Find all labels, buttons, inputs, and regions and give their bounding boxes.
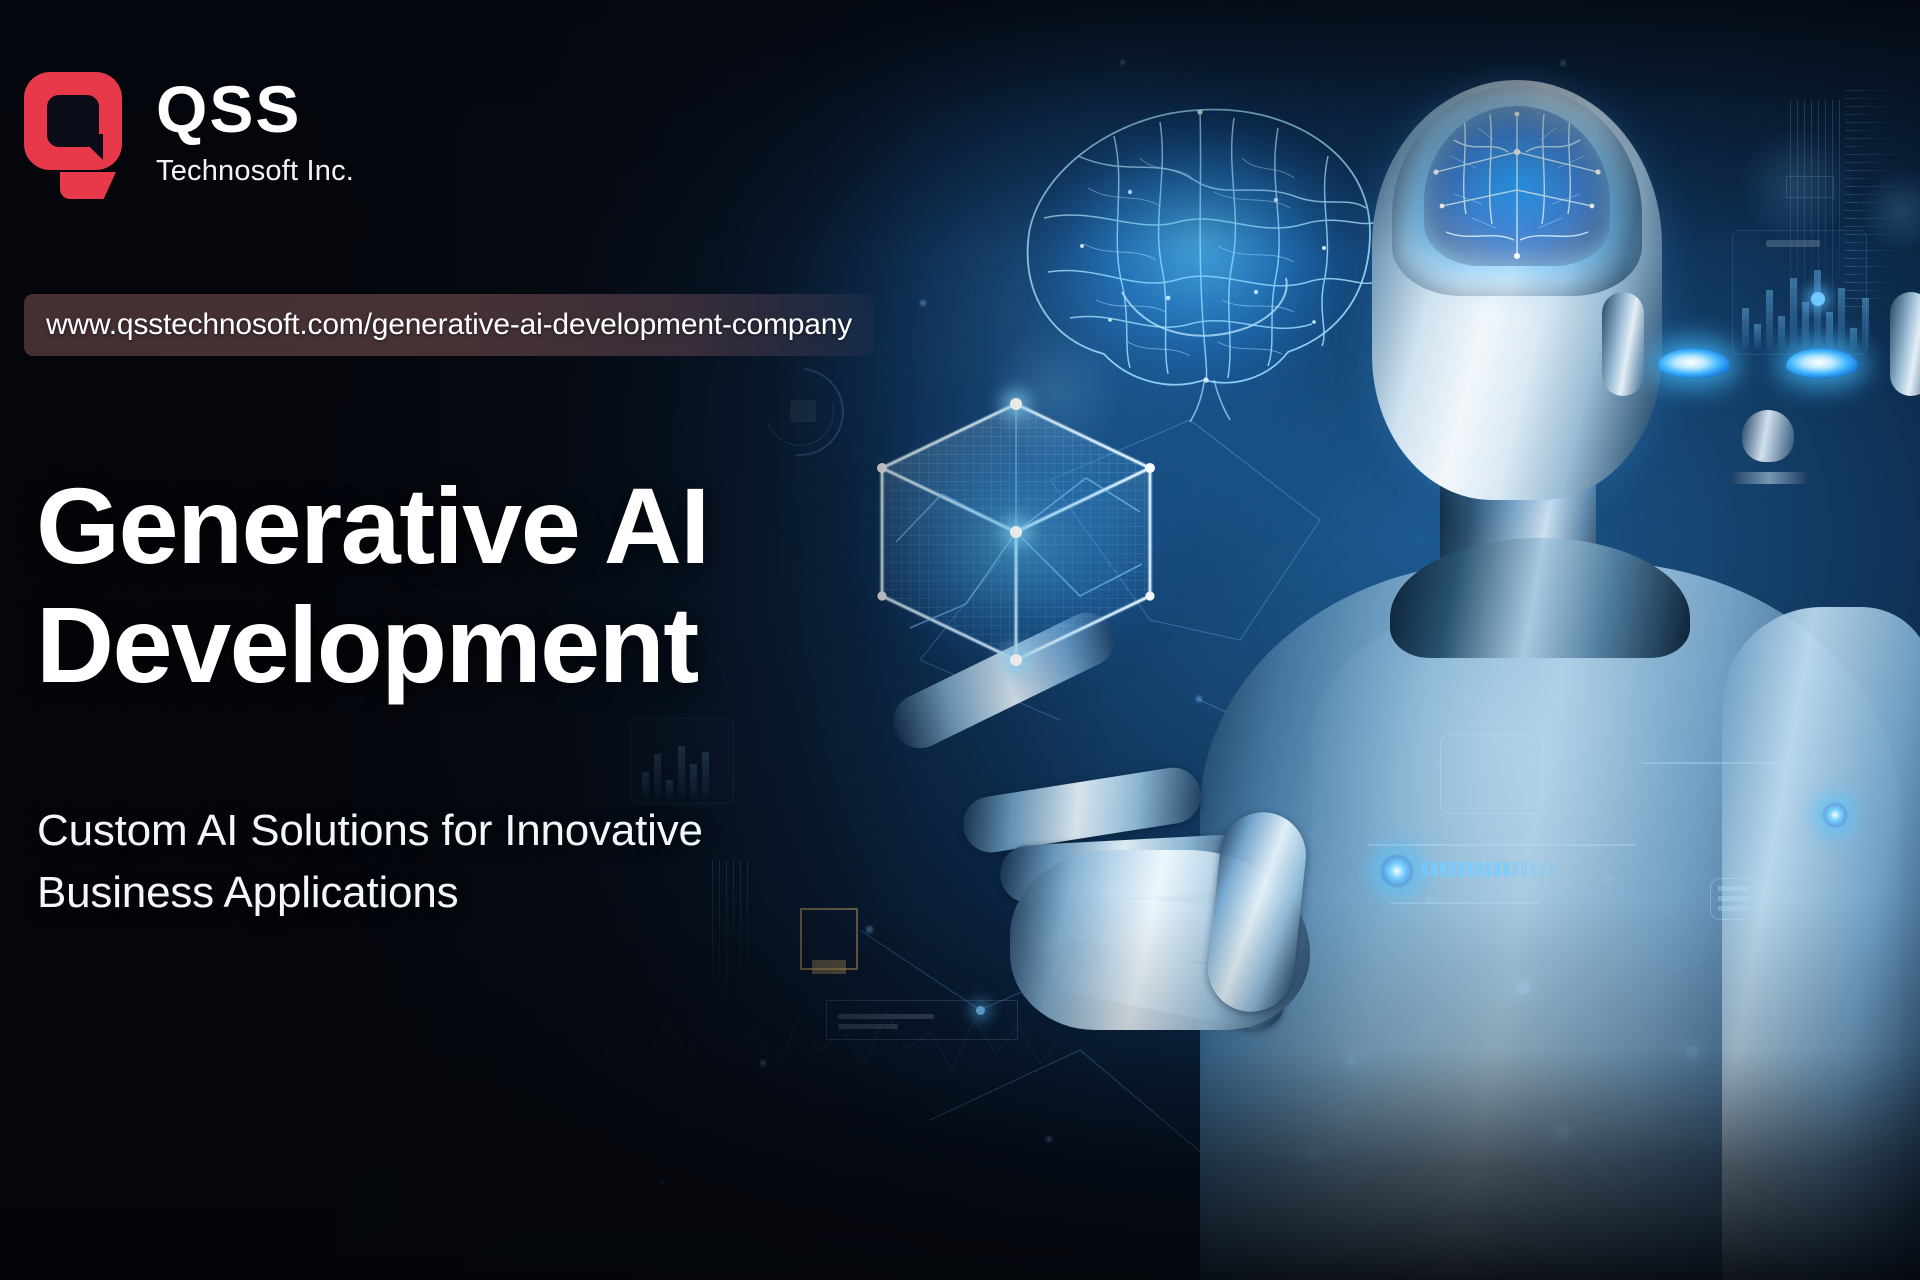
- brand-name: QSS: [156, 76, 354, 142]
- hero-subtitle: Custom AI Solutions for Innovative Busin…: [37, 800, 917, 925]
- hero-subtitle-line2: Business Applications: [37, 862, 917, 924]
- hero-subtitle-line1: Custom AI Solutions for Innovative: [37, 806, 703, 855]
- brand-tagline: Technosoft Inc.: [156, 155, 354, 188]
- hero-headline-line1: Generative AI: [36, 465, 709, 586]
- hero-banner: QSS Technosoft Inc. www.qsstechnosoft.co…: [0, 0, 1920, 1280]
- website-url-text: www.qsstechnosoft.com/generative-ai-deve…: [46, 308, 852, 342]
- brand-logo-text: QSS Technosoft Inc.: [156, 72, 354, 188]
- qss-q-logo-icon: [24, 72, 126, 206]
- hero-headline: Generative AI Development: [36, 467, 936, 705]
- hero-headline-line2: Development: [36, 586, 936, 705]
- logo-q-tail-shape: [60, 172, 116, 199]
- website-url-bar[interactable]: www.qsstechnosoft.com/generative-ai-deve…: [24, 294, 874, 356]
- brand-logo[interactable]: QSS Technosoft Inc.: [24, 72, 354, 206]
